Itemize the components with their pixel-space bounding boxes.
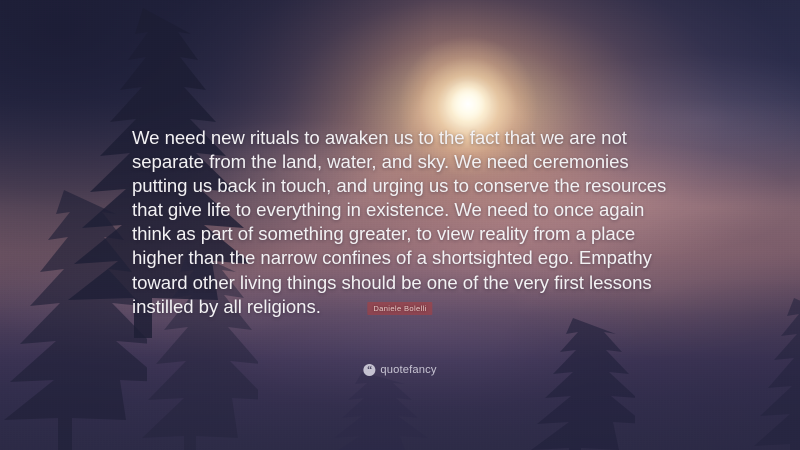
attribution-author-name: Daniele Bolelli — [367, 302, 432, 315]
quote-poster: We need new rituals to awaken us to the … — [0, 0, 800, 450]
watermark[interactable]: “ quotefancy — [363, 364, 436, 376]
poster-content: We need new rituals to awaken us to the … — [0, 0, 800, 450]
quote-block: We need new rituals to awaken us to the … — [132, 126, 668, 319]
quotefancy-logo-icon: “ — [363, 364, 375, 376]
attribution: Daniele Bolelli — [367, 302, 432, 315]
quote-text: We need new rituals to awaken us to the … — [132, 126, 668, 319]
quote-mark-glyph: “ — [367, 368, 372, 374]
watermark-brand-label: quotefancy — [380, 364, 436, 376]
